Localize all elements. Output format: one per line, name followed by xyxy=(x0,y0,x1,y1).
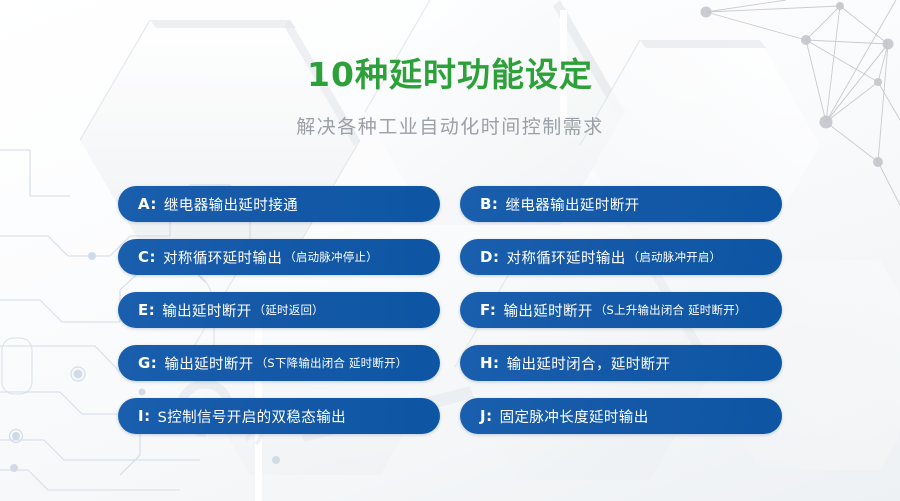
function-item-e[interactable]: E: 输出延时断开 （延时返回） xyxy=(118,292,440,328)
function-item-j[interactable]: J: 固定脉冲长度延时输出 xyxy=(460,398,782,434)
function-note-d: （启动脉冲开启） xyxy=(628,249,722,265)
function-note-c: （启动脉冲停止） xyxy=(284,249,378,265)
function-key-f: F: xyxy=(480,301,496,319)
function-label-i: S控制信号开启的双稳态输出 xyxy=(158,406,346,427)
page-title: 10种延时功能设定 xyxy=(0,56,900,95)
page-subtitle: 解决各种工业自动化时间控制需求 xyxy=(0,112,900,139)
header-block: 10种延时功能设定 解决各种工业自动化时间控制需求 xyxy=(0,56,900,139)
function-label-g: 输出延时断开 xyxy=(164,353,253,374)
function-key-c: C: xyxy=(138,248,156,266)
function-item-h[interactable]: H: 输出延时闭合，延时断开 xyxy=(460,345,782,381)
function-label-a: 继电器输出延时接通 xyxy=(164,194,298,215)
function-item-a[interactable]: A: 继电器输出延时接通 xyxy=(118,186,440,222)
function-label-c: 对称循环延时输出 xyxy=(163,247,282,268)
function-key-h: H: xyxy=(480,354,500,372)
function-label-d: 对称循环延时输出 xyxy=(506,247,625,268)
function-item-d[interactable]: D: 对称循环延时输出 （启动脉冲开启） xyxy=(460,239,782,275)
function-label-f: 输出延时断开 xyxy=(503,300,592,321)
promo-banner: 10种延时功能设定 解决各种工业自动化时间控制需求 A: 继电器输出延时接通 B… xyxy=(0,0,900,501)
function-key-i: I: xyxy=(138,407,151,425)
function-note-e: （延时返回） xyxy=(254,302,324,318)
function-label-e: 输出延时断开 xyxy=(162,300,251,321)
function-key-d: D: xyxy=(480,248,499,266)
function-item-g[interactable]: G: 输出延时断开 （S下降输出闭合 延时断开） xyxy=(118,345,440,381)
function-label-b: 继电器输出延时断开 xyxy=(505,194,639,215)
function-label-h: 输出延时闭合，延时断开 xyxy=(507,353,671,374)
function-list: A: 继电器输出延时接通 B: 继电器输出延时断开 C: 对称循环延时输出 （启… xyxy=(118,186,782,434)
function-item-i[interactable]: I: S控制信号开启的双稳态输出 xyxy=(118,398,440,434)
function-key-e: E: xyxy=(138,301,155,319)
function-label-j: 固定脉冲长度延时输出 xyxy=(500,406,649,427)
function-item-f[interactable]: F: 输出延时断开 （S上升输出闭合 延时断开） xyxy=(460,292,782,328)
function-key-g: G: xyxy=(138,354,157,372)
function-note-f: （S上升输出闭合 延时断开） xyxy=(595,302,747,318)
function-item-c[interactable]: C: 对称循环延时输出 （启动脉冲停止） xyxy=(118,239,440,275)
function-key-j: J: xyxy=(480,407,493,425)
function-item-b[interactable]: B: 继电器输出延时断开 xyxy=(460,186,782,222)
function-key-b: B: xyxy=(480,195,498,213)
function-note-g: （S下降输出闭合 延时断开） xyxy=(256,355,408,371)
function-key-a: A: xyxy=(138,195,157,213)
